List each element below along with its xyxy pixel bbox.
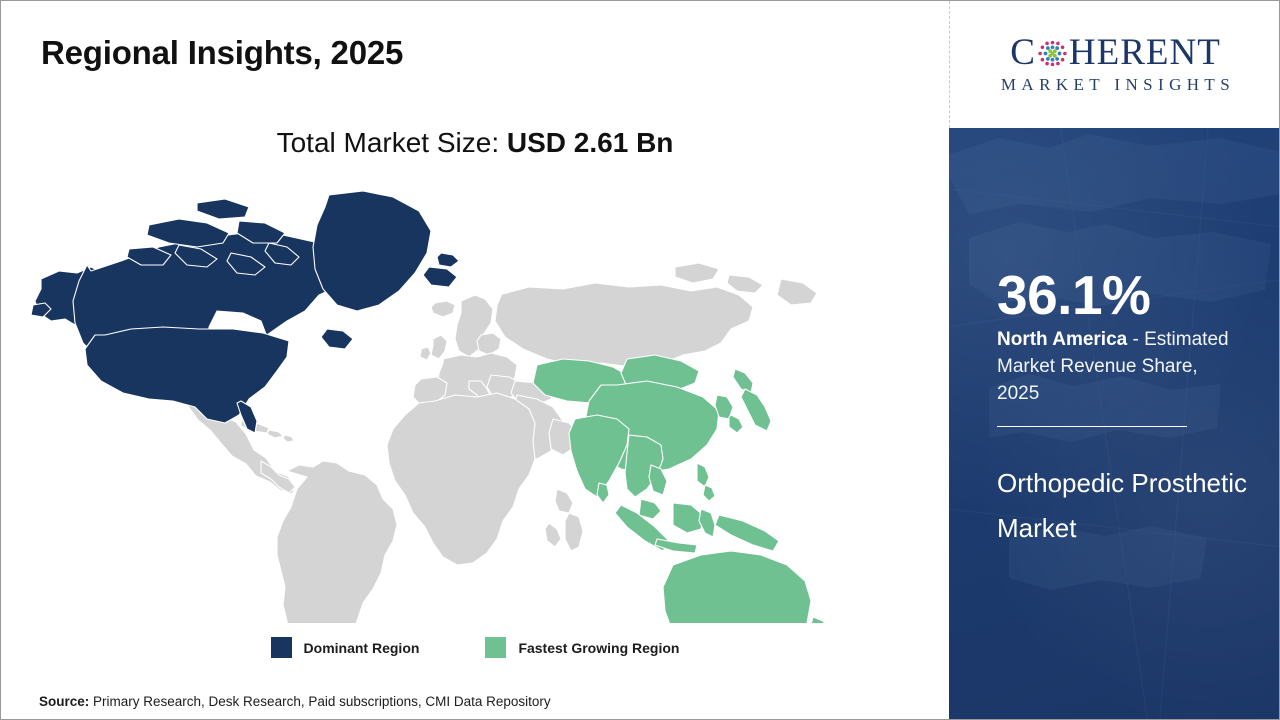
legend-label-fastest-growing: Fastest Growing Region	[518, 640, 679, 656]
brand-name-right: HERENT	[1069, 34, 1221, 71]
world-map	[29, 183, 859, 623]
brand-name-left: C	[1010, 34, 1036, 71]
legend-item-fastest-growing: Fastest Growing Region	[485, 637, 679, 658]
source-note: Source: Primary Research, Desk Research,…	[39, 694, 551, 709]
stat-percentage: 36.1%	[997, 268, 1150, 323]
legend-swatch-dominant-icon	[271, 637, 292, 658]
market-size-label: Total Market Size:	[277, 127, 507, 158]
globe-dot-matrix-icon	[1037, 38, 1068, 69]
map-region-north-america	[31, 191, 459, 433]
stat-caption: North America - Estimated Market Revenue…	[997, 327, 1241, 408]
legend-swatch-fastest-growing-icon	[485, 637, 506, 658]
right-side-panel: C	[949, 1, 1280, 720]
source-label: Source:	[39, 694, 89, 709]
market-name: Orthopedic Prosthetic Market	[997, 461, 1247, 551]
stat-divider	[997, 426, 1187, 427]
page-title: Regional Insights, 2025	[41, 34, 403, 72]
stat-region-name: North America	[997, 329, 1127, 350]
map-legend: Dominant Region Fastest Growing Region	[1, 637, 949, 658]
stat-content: 36.1% North America - Estimated Market R…	[997, 128, 1280, 720]
regional-insights-infographic: Regional Insights, 2025 Total Market Siz…	[0, 0, 1280, 720]
brand-name-row: C	[1010, 34, 1221, 71]
brand-tagline: MARKET INSIGHTS	[996, 75, 1235, 95]
total-market-size: Total Market Size: USD 2.61 Bn	[1, 127, 949, 159]
left-content-pane: Regional Insights, 2025 Total Market Siz…	[1, 1, 949, 720]
map-region-asia-pacific	[533, 355, 843, 623]
legend-label-dominant: Dominant Region	[304, 640, 420, 656]
legend-item-dominant: Dominant Region	[271, 637, 420, 658]
stat-panel: 36.1% North America - Estimated Market R…	[949, 128, 1280, 720]
market-size-value: USD 2.61 Bn	[507, 127, 674, 158]
source-text: Primary Research, Desk Research, Paid su…	[89, 694, 550, 709]
brand-logo: C	[949, 1, 1280, 128]
